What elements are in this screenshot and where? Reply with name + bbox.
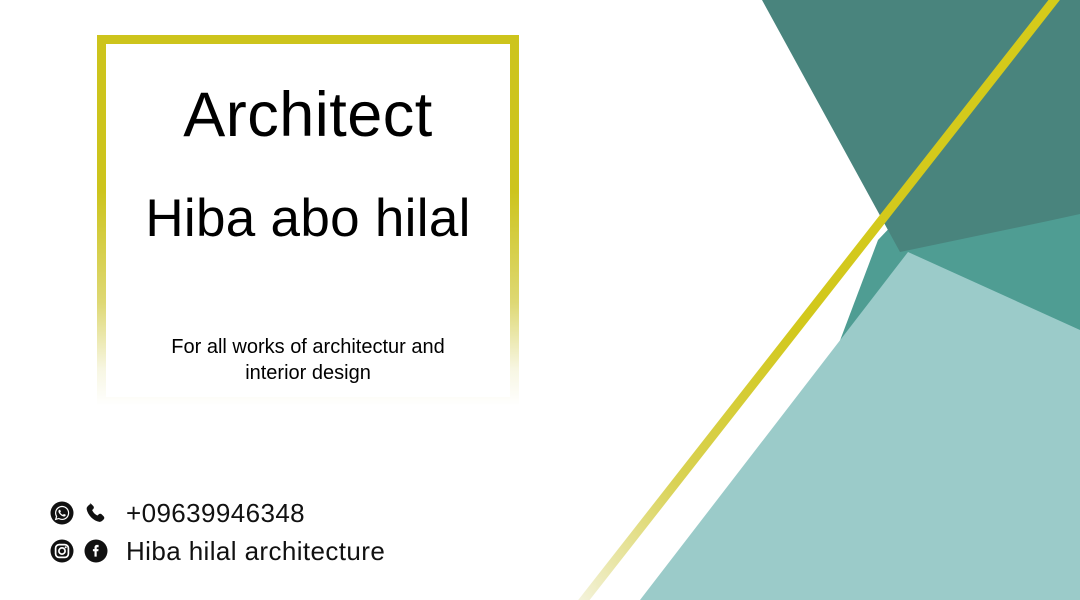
headline-frame: Architect Hiba abo hilal For all works o… — [97, 35, 519, 406]
social-icon-group — [50, 539, 112, 563]
shape-dark-teal — [762, 0, 1080, 252]
architect-name: Hiba abo hilal — [106, 192, 510, 245]
phone-icon[interactable] — [84, 501, 108, 525]
shape-light-teal — [640, 252, 1080, 600]
contact-block: +09639946348 Hiba hilal architecture — [50, 494, 385, 570]
tagline: For all works of architectur and interio… — [128, 334, 488, 387]
tagline-line-1: For all works of architectur and — [171, 336, 444, 358]
page-title: Architect — [106, 84, 510, 147]
accent-diagonal-line — [580, 0, 1062, 600]
phone-icon-group — [50, 501, 112, 525]
contact-row-social: Hiba hilal architecture — [50, 532, 385, 570]
facebook-icon[interactable] — [84, 539, 108, 563]
social-handle[interactable]: Hiba hilal architecture — [126, 536, 385, 567]
instagram-icon[interactable] — [50, 539, 74, 563]
whatsapp-icon[interactable] — [50, 501, 74, 525]
tagline-line-2: interior design — [245, 362, 371, 384]
contact-row-phone: +09639946348 — [50, 494, 385, 532]
phone-number[interactable]: +09639946348 — [126, 498, 305, 529]
headline-frame-inner: Architect Hiba abo hilal For all works o… — [106, 44, 510, 397]
shape-mid-teal — [742, 28, 1080, 600]
business-card: Architect Hiba abo hilal For all works o… — [0, 0, 1080, 600]
